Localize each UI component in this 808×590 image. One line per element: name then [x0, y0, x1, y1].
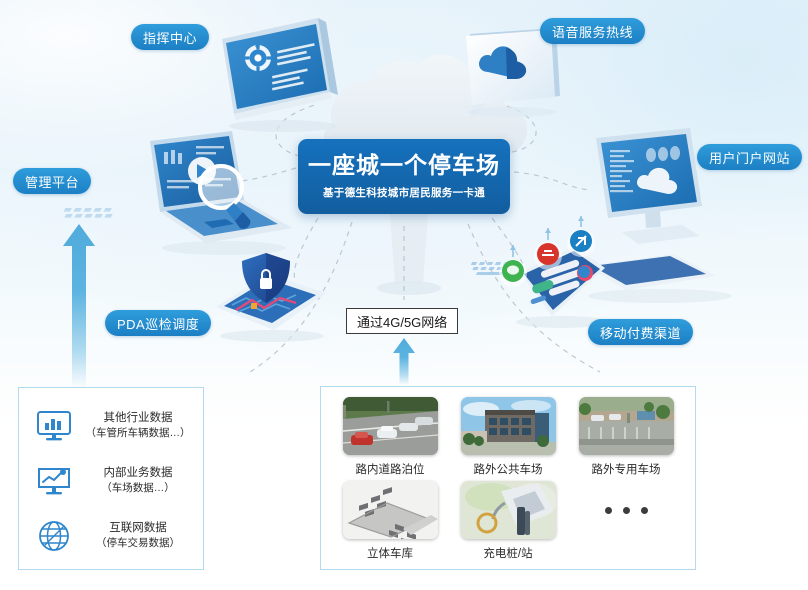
parking-type-caption: 充电桩/站: [483, 545, 532, 561]
management-platform-arrow: [63, 224, 95, 388]
more-types-cell: [567, 481, 685, 565]
data-row-title: 互联网数据: [81, 521, 195, 537]
parking-types-panel: 路内道路泊位: [320, 386, 696, 570]
public-lot-photo: [461, 397, 556, 455]
line-chart-monitor-icon: [27, 465, 81, 497]
data-row[interactable]: 互联网数据 （停车交易数据）: [27, 508, 195, 563]
title-main: 一座城一个停车场: [308, 153, 500, 178]
data-row[interactable]: 内部业务数据 （车场数据…）: [27, 453, 195, 508]
magnifier-icon: [200, 166, 250, 229]
parking-type-cell[interactable]: 充电桩/站: [449, 481, 567, 565]
parking-type-caption: 立体车库: [367, 545, 413, 561]
street-parking-photo: [343, 397, 438, 455]
management-laptop-illustration: [63, 131, 292, 255]
unionpay-badge: [567, 216, 595, 257]
command-center-monitor-illustration: [222, 18, 338, 132]
title-sub: 基于德生科技城市居民服务一卡通: [323, 185, 485, 200]
data-row-text: 内部业务数据 （车场数据…）: [81, 466, 195, 496]
data-row[interactable]: 其他行业数据 （车管所车辆数据…）: [27, 398, 195, 453]
parking-type-caption: 路外专用车场: [592, 461, 661, 477]
label-management-platform[interactable]: 管理平台: [13, 168, 91, 194]
data-row-title: 内部业务数据: [81, 466, 195, 482]
ev-charging-photo: [461, 481, 556, 539]
parking-type-cell[interactable]: 路外专用车场: [567, 397, 685, 481]
alipay-badge: [534, 228, 562, 270]
label-pda-dispatch[interactable]: PDA巡检调度: [105, 310, 211, 336]
label-user-portal[interactable]: 用户门户网站: [697, 144, 802, 170]
smartphone-illustration: [516, 246, 608, 328]
parking-type-cell[interactable]: 路外公共车场: [449, 397, 567, 481]
label-mobile-payment[interactable]: 移动付费渠道: [588, 319, 693, 345]
network-arrow: [393, 338, 415, 385]
dedicated-lot-photo: [579, 397, 674, 455]
parking-type-caption: 路外公共车场: [474, 461, 543, 477]
shield-lock-icon: [242, 253, 290, 303]
data-row-text: 互联网数据 （停车交易数据）: [81, 521, 195, 551]
parking-type-caption: 路内道路泊位: [356, 461, 425, 477]
more-indicator: [605, 481, 648, 539]
app-badges-illustration: [499, 216, 595, 287]
pda-tablet-shield-illustration: [216, 253, 326, 342]
label-voice-hotline[interactable]: 语音服务热线: [540, 18, 645, 44]
central-title-card: 一座城一个停车场 基于德生科技城市居民服务一卡通: [298, 139, 510, 214]
globe-icon: [27, 519, 81, 553]
data-row-title: 其他行业数据: [81, 411, 195, 427]
wechat-pay-badge: [499, 245, 527, 287]
bar-chart-monitor-icon: [27, 410, 81, 442]
parking-type-cell[interactable]: 立体车库: [331, 481, 449, 565]
diagram-canvas: 一座城一个停车场 基于德生科技城市居民服务一卡通 指挥中心 语音服务热线 管理平…: [0, 0, 808, 590]
label-command-center[interactable]: 指挥中心: [131, 24, 209, 50]
data-row-subtitle: （车管所车辆数据…）: [81, 426, 195, 440]
parking-type-cell[interactable]: 路内道路泊位: [331, 397, 449, 481]
data-row-subtitle: （车场数据…）: [81, 481, 195, 495]
multilevel-garage-photo: [343, 481, 438, 539]
label-network[interactable]: 通过4G/5G网络: [346, 308, 458, 334]
data-row-text: 其他行业数据 （车管所车辆数据…）: [81, 411, 195, 441]
data-sources-panel: 其他行业数据 （车管所车辆数据…） 内部业务数据 （车场数据…）: [18, 387, 204, 570]
data-row-subtitle: （停车交易数据）: [81, 536, 195, 550]
